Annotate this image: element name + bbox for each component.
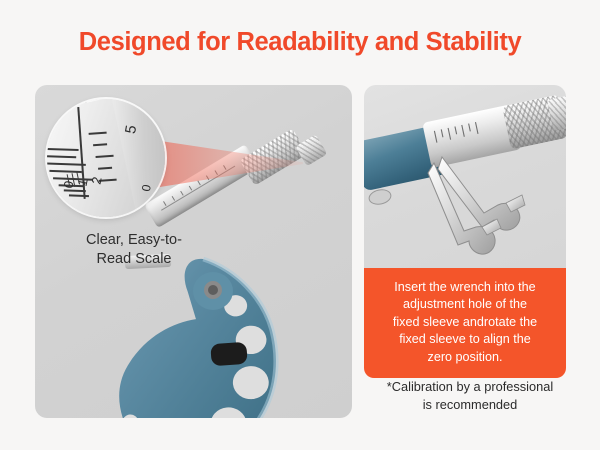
callout-line-2: adjustment hole of the: [374, 296, 556, 313]
callout-line-1: Insert the wrench into the: [374, 279, 556, 296]
readable-scale-panel: 0 1 2 5 0 Clear, Easy-to- Read Scale: [35, 85, 352, 418]
footnote-line-1: *Calibration by a professional: [364, 378, 576, 396]
scale-caption-line-1: Clear, Easy-to-: [49, 231, 219, 250]
infographic-root: Designed for Readability and Stability: [0, 0, 600, 450]
wrench-adjustment-panel: [364, 85, 566, 268]
instruction-callout: Insert the wrench into the adjustment ho…: [364, 268, 566, 378]
calibration-footnote: *Calibration by a professional is recomm…: [364, 378, 576, 414]
scale-magnifier: 0 1 2 5 0: [47, 99, 165, 217]
callout-line-5: zero position.: [374, 349, 556, 366]
micrometer-wrench-illustration: [364, 85, 566, 268]
scale-caption-line-2: Read Scale: [49, 250, 219, 269]
scale-caption: Clear, Easy-to- Read Scale: [49, 231, 219, 269]
footnote-line-2: is recommended: [364, 396, 576, 414]
callout-line-3: fixed sleeve androtate the: [374, 314, 556, 331]
callout-line-4: fixed sleeve to align the: [374, 331, 556, 348]
page-title: Designed for Readability and Stability: [0, 28, 600, 57]
spanner-wrench-icon: [364, 85, 566, 268]
frame-brand-label: [210, 342, 247, 366]
